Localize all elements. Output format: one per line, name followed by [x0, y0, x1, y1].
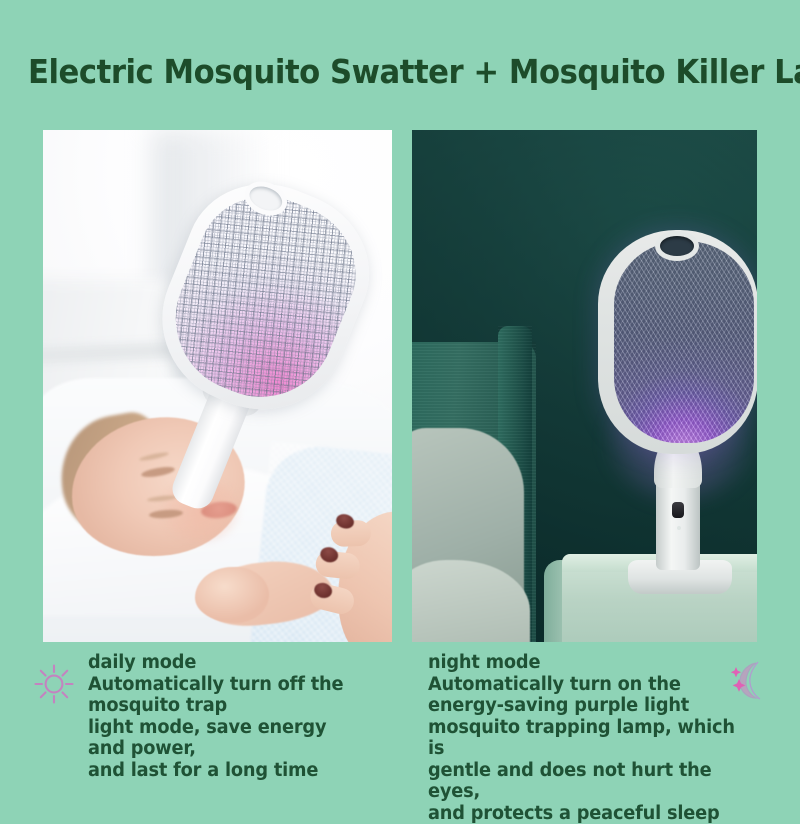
lamp-hanging-hole: [660, 236, 694, 256]
lamp-mesh-grid: [614, 241, 754, 443]
mosquito-killer-lamp-device: [592, 230, 757, 590]
page-title: Electric Mosquito Swatter + Mosquito Kil…: [28, 52, 772, 91]
night-mode-caption: night mode Automatically turn on the ene…: [428, 652, 745, 824]
daily-mode-caption: daily mode Automatically turn off the mo…: [88, 652, 376, 781]
lamp-handle: [656, 474, 700, 570]
moon-star-icon: [722, 655, 770, 703]
daily-mode-photo: [43, 130, 392, 642]
indicator-led: [677, 526, 681, 530]
power-button[interactable]: [672, 502, 684, 518]
baby-hand: [195, 567, 269, 623]
product-infographic: Electric Mosquito Swatter + Mosquito Kil…: [0, 0, 800, 800]
bright-bedroom-background: [43, 130, 392, 642]
dark-bedroom-background: [412, 130, 757, 642]
lamp-mesh-panel: [614, 241, 754, 443]
night-mode-photo: [412, 130, 757, 642]
lamp-frame: [598, 230, 757, 454]
sun-icon: [32, 662, 76, 706]
